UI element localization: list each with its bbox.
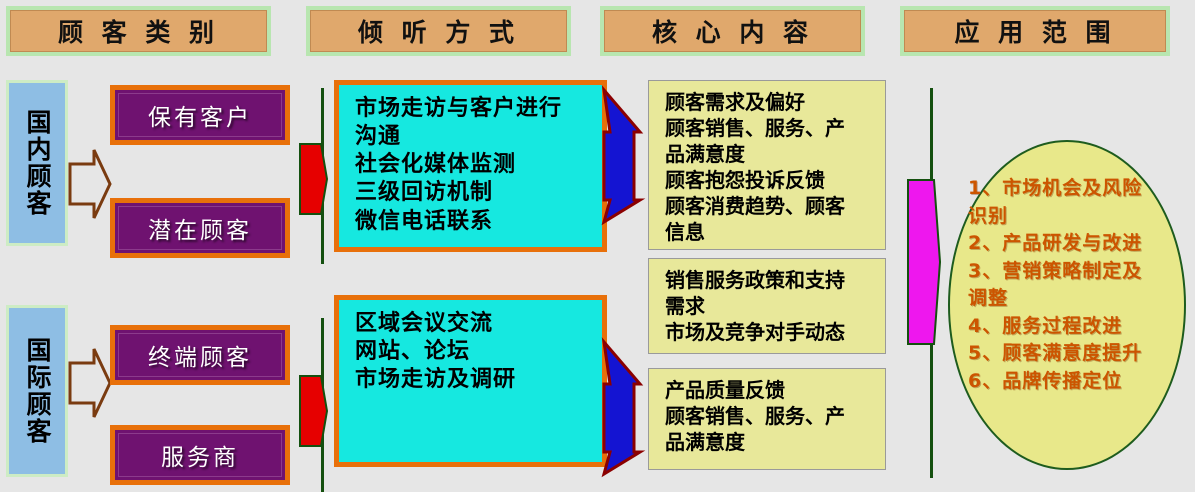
application-item: 识别 (968, 203, 1178, 231)
content-line: 产品质量反馈 (665, 377, 877, 403)
content-line: 顾客需求及偏好 (665, 89, 877, 115)
category-label-domestic: 国内顾客 (23, 109, 51, 217)
arrow-blue-bottom (600, 340, 646, 476)
method-line: 区域会议交流 (355, 310, 602, 338)
application-item: 4、服务过程改进 (968, 313, 1178, 341)
header-label-listening-method: 倾 听 方 式 (310, 10, 567, 52)
content-line: 顾客消费趋势、顾客 (665, 193, 877, 219)
segment-label-end-customers: 终端顾客 (118, 333, 282, 377)
content-line: 顾客抱怨投诉反馈 (665, 167, 877, 193)
applications-list: 1、市场机会及风险 识别 2、产品研发与改进 3、营销策略制定及 调整 4、服务… (968, 175, 1178, 395)
application-item: 3、营销策略制定及 (968, 258, 1178, 286)
application-item: 6、品牌传播定位 (968, 368, 1178, 396)
segment-box-service-providers: 服务商 (110, 425, 290, 485)
content-line: 需求 (665, 293, 877, 319)
header-box-listening-method: 倾 听 方 式 (306, 6, 571, 56)
diagram-canvas: 顾 客 类 别 倾 听 方 式 核 心 内 容 应 用 范 围 国内顾客 国际顾… (0, 0, 1195, 492)
header-label-core-content: 核 心 内 容 (604, 10, 861, 52)
application-item: 调整 (968, 285, 1178, 313)
content-line: 销售服务政策和支持 (665, 267, 877, 293)
content-box-sales-policy: 销售服务政策和支持 需求 市场及竞争对手动态 (648, 258, 886, 354)
category-box-international: 国际顾客 (6, 305, 68, 477)
header-box-customer-category: 顾 客 类 别 (6, 6, 271, 56)
header-box-core-content: 核 心 内 容 (600, 6, 865, 56)
segment-label-existing-customers: 保有客户 (118, 93, 282, 137)
content-box-customer-needs: 顾客需求及偏好 顾客销售、服务、产 品满意度 顾客抱怨投诉反馈 顾客消费趋势、顾… (648, 80, 886, 250)
header-box-application-scope: 应 用 范 围 (900, 6, 1170, 56)
arrow-magenta-to-applications (906, 178, 946, 346)
content-line: 顾客销售、服务、产 (665, 115, 877, 141)
arrow-red-top (299, 140, 329, 218)
method-line: 市场走访及调研 (355, 366, 602, 394)
method-line: 沟通 (355, 123, 602, 151)
content-line: 市场及竞争对手动态 (665, 319, 877, 345)
segment-label-service-providers: 服务商 (118, 433, 282, 477)
chevron-arrow-icon-domestic (68, 146, 112, 222)
chevron-arrow-icon-international (68, 345, 112, 421)
content-line: 信息 (665, 219, 877, 245)
method-box-domestic: 市场走访与客户进行 沟通 社会化媒体监测 三级回访机制 微信电话联系 (334, 80, 607, 252)
arrow-red-bottom (299, 372, 329, 450)
method-box-international: 区域会议交流 网站、论坛 市场走访及调研 (334, 295, 607, 467)
category-box-domestic: 国内顾客 (6, 80, 68, 246)
segment-label-potential-customers: 潜在顾客 (118, 206, 282, 250)
header-label-customer-category: 顾 客 类 别 (10, 10, 267, 52)
header-label-application-scope: 应 用 范 围 (904, 10, 1166, 52)
content-box-product-quality: 产品质量反馈 顾客销售、服务、产 品满意度 (648, 368, 886, 470)
application-item: 1、市场机会及风险 (968, 175, 1178, 203)
method-line: 三级回访机制 (355, 179, 602, 207)
content-line: 顾客销售、服务、产 (665, 403, 877, 429)
application-item: 5、顾客满意度提升 (968, 340, 1178, 368)
segment-box-potential-customers: 潜在顾客 (110, 198, 290, 258)
method-line: 社会化媒体监测 (355, 151, 602, 179)
category-label-international: 国际顾客 (23, 337, 51, 445)
arrow-blue-top (600, 88, 646, 224)
method-line: 市场走访与客户进行 (355, 95, 602, 123)
segment-box-existing-customers: 保有客户 (110, 85, 290, 145)
method-line: 网站、论坛 (355, 338, 602, 366)
content-line: 品满意度 (665, 141, 877, 167)
content-line: 品满意度 (665, 429, 877, 455)
method-line: 微信电话联系 (355, 208, 602, 236)
segment-box-end-customers: 终端顾客 (110, 325, 290, 385)
application-item: 2、产品研发与改进 (968, 230, 1178, 258)
